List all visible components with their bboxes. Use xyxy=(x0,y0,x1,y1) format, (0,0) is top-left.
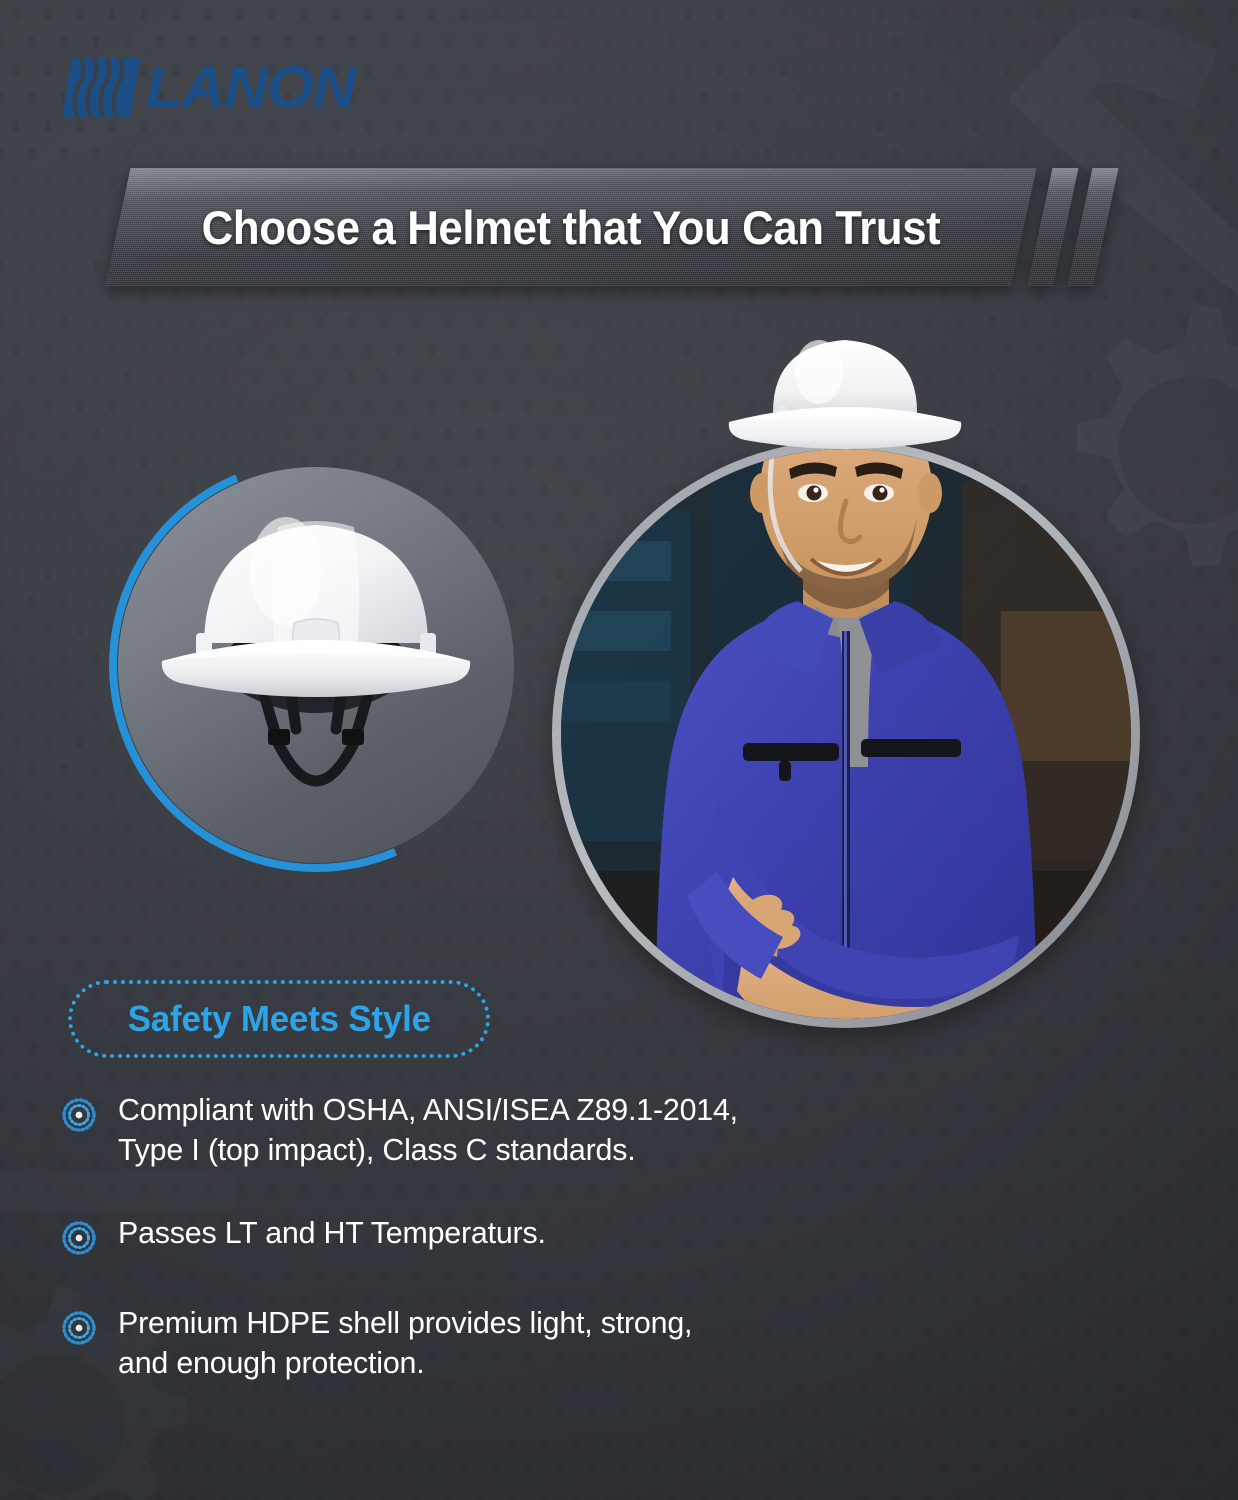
list-item: Passes LT and HT Temperaturs. xyxy=(62,1213,962,1255)
page-title: Choose a Helmet that You Can Trust xyxy=(150,168,993,286)
dotted-ring-bullet-icon xyxy=(62,1221,96,1255)
dotted-ring-bullet-icon xyxy=(62,1098,96,1132)
worker-photo xyxy=(561,449,1131,1019)
brand-name: LANON xyxy=(146,59,355,117)
helmet-product-circle xyxy=(118,467,514,863)
list-item: Premium HDPE shell provides light, stron… xyxy=(62,1303,962,1384)
headline-banner: Choose a Helmet that You Can Trust xyxy=(118,168,1128,286)
feature-list: Compliant with OSHA, ANSI/ISEA Z89.1-201… xyxy=(62,1090,962,1383)
wavy-lines-mark-icon xyxy=(62,58,140,118)
brand-logo: LANON xyxy=(62,58,347,118)
worker-hard-hat-icon xyxy=(715,330,975,455)
dotted-ring-bullet-icon xyxy=(62,1311,96,1345)
safety-meets-style-pill: Safety Meets Style xyxy=(68,980,490,1058)
pill-label: Safety Meets Style xyxy=(127,998,430,1040)
list-item: Compliant with OSHA, ANSI/ISEA Z89.1-201… xyxy=(62,1090,962,1171)
banner-accent-bar-2 xyxy=(1067,168,1118,286)
worker-photo-circle xyxy=(552,418,1140,1054)
list-item-label: Passes LT and HT Temperaturs. xyxy=(118,1213,546,1253)
list-item-label: Compliant with OSHA, ANSI/ISEA Z89.1-201… xyxy=(118,1090,738,1171)
list-item-label: Premium HDPE shell provides light, stron… xyxy=(118,1303,692,1384)
product-banner: LANON Choose a Helmet that You Can Trust xyxy=(0,0,1238,1500)
